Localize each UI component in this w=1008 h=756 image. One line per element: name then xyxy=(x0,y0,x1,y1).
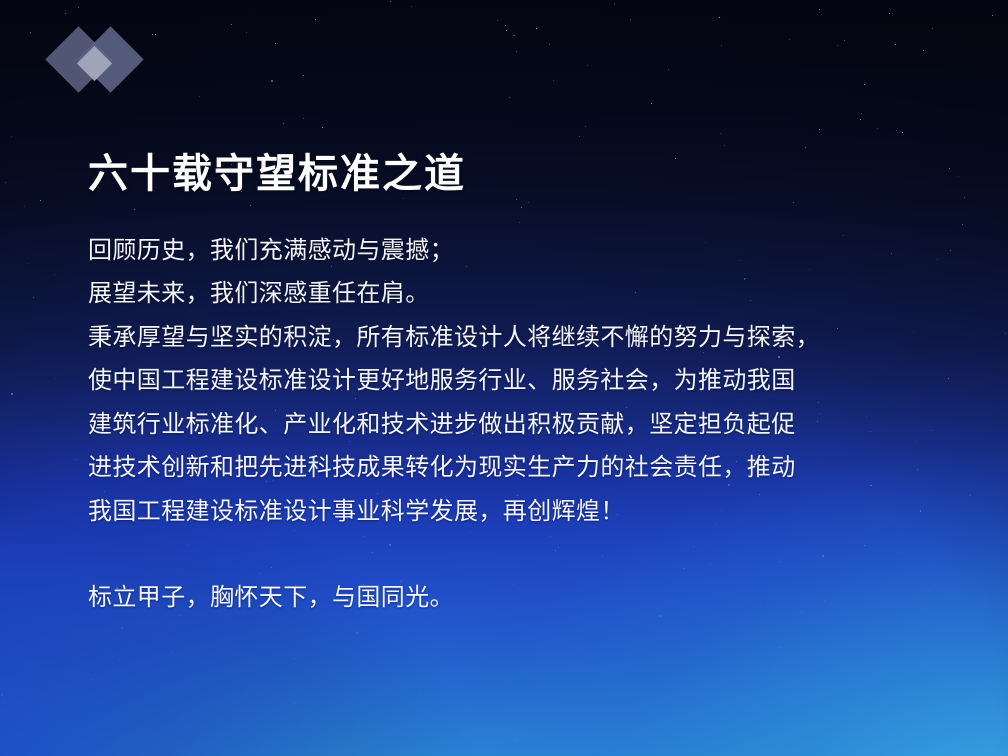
body-line: 我国工程建设标准设计事业科学发展，再创辉煌！ xyxy=(88,490,928,534)
slide-closing-block: 标立甲子，胸怀天下，与国同光。 xyxy=(88,576,928,620)
slide-closing-line: 标立甲子，胸怀天下，与国同光。 xyxy=(88,576,928,620)
body-line: 展望未来，我们深感重任在肩。 xyxy=(88,272,928,316)
body-line: 秉承厚望与坚实的积淀，所有标准设计人将继续不懈的努力与探索， xyxy=(88,316,928,360)
slide-title: 六十载守望标准之道 xyxy=(88,152,928,197)
slide-content: 六十载守望标准之道 回顾历史，我们充满感动与震撼； 展望未来，我们深感重任在肩。… xyxy=(88,152,928,620)
body-line: 回顾历史，我们充满感动与震撼； xyxy=(88,229,928,273)
body-line: 建筑行业标准化、产业化和技术进步做出积极贡献，坚定担负起促 xyxy=(88,403,928,447)
presentation-slide: 六十载守望标准之道 回顾历史，我们充满感动与震撼； 展望未来，我们深感重任在肩。… xyxy=(0,0,1008,756)
body-line: 使中国工程建设标准设计更好地服务行业、服务社会，为推动我国 xyxy=(88,359,928,403)
double-diamond-logo xyxy=(52,24,154,96)
body-line: 进技术创新和把先进科技成果转化为现实生产力的社会责任，推动 xyxy=(88,446,928,490)
slide-body-paragraph: 回顾历史，我们充满感动与震撼； 展望未来，我们深感重任在肩。 秉承厚望与坚实的积… xyxy=(88,229,928,534)
